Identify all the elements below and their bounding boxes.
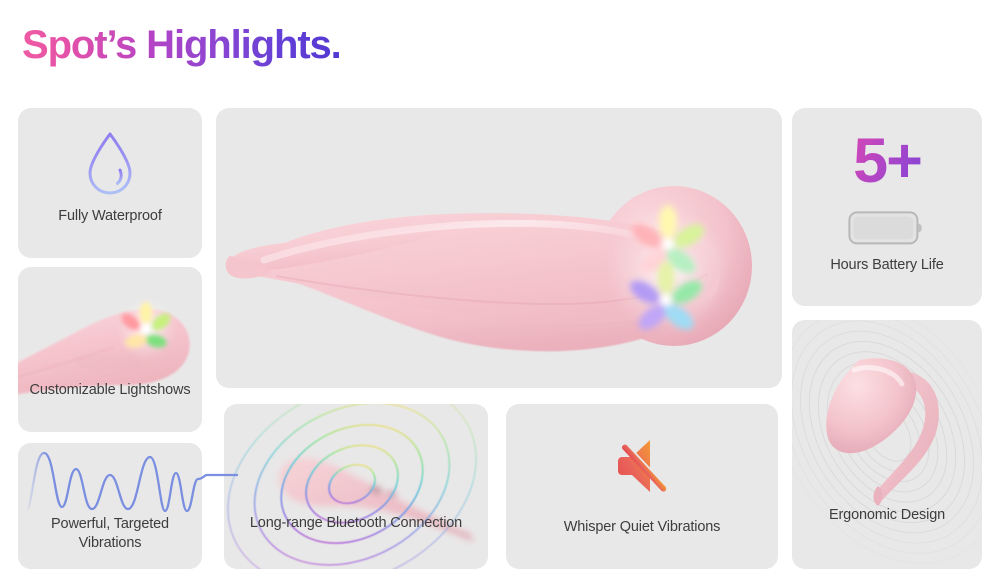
page-title: Spot’s Highlights. [22,22,341,68]
water-droplet-icon [78,128,142,200]
battery-icon [848,211,926,245]
feature-label-ergonomic: Ergonomic Design [792,506,982,525]
feature-card-whisper[interactable]: Whisper Quiet Vibrations [506,404,778,569]
feature-card-waterproof[interactable]: Fully Waterproof [18,108,202,258]
feature-card-bluetooth[interactable]: Long-range Bluetooth Connection [224,404,488,569]
battery-hours-value: 5+ [792,130,982,193]
feature-card-vibrations[interactable]: Powerful, Targeted Vibrations [18,443,202,569]
feature-label-battery: Hours Battery Life [792,256,982,275]
feature-label-bluetooth: Long-range Bluetooth Connection [224,514,488,533]
feature-card-lightshows[interactable]: Customizable Lightshows [18,267,202,432]
product-curved-topographic-photo [792,320,982,569]
waveform-icon [8,445,238,517]
feature-card-ergonomic[interactable]: Ergonomic Design [792,320,982,569]
bluetooth-rainbow-rings-photo [224,404,488,569]
hero-product-card[interactable] [216,108,782,388]
feature-label-lightshows: Customizable Lightshows [18,381,202,400]
feature-label-vibrations: Powerful, Targeted Vibrations [18,515,202,552]
highlights-page: Spot’s Highlights. Fully Waterproof [0,0,1000,585]
product-tip-rainbow-led-photo [18,267,202,432]
feature-card-battery[interactable]: 5+ Hours Battery Life [792,108,982,306]
feature-label-waterproof: Fully Waterproof [18,207,202,226]
speaker-mute-icon [606,430,678,502]
feature-label-whisper: Whisper Quiet Vibrations [506,518,778,537]
product-hero-photo [216,108,782,388]
